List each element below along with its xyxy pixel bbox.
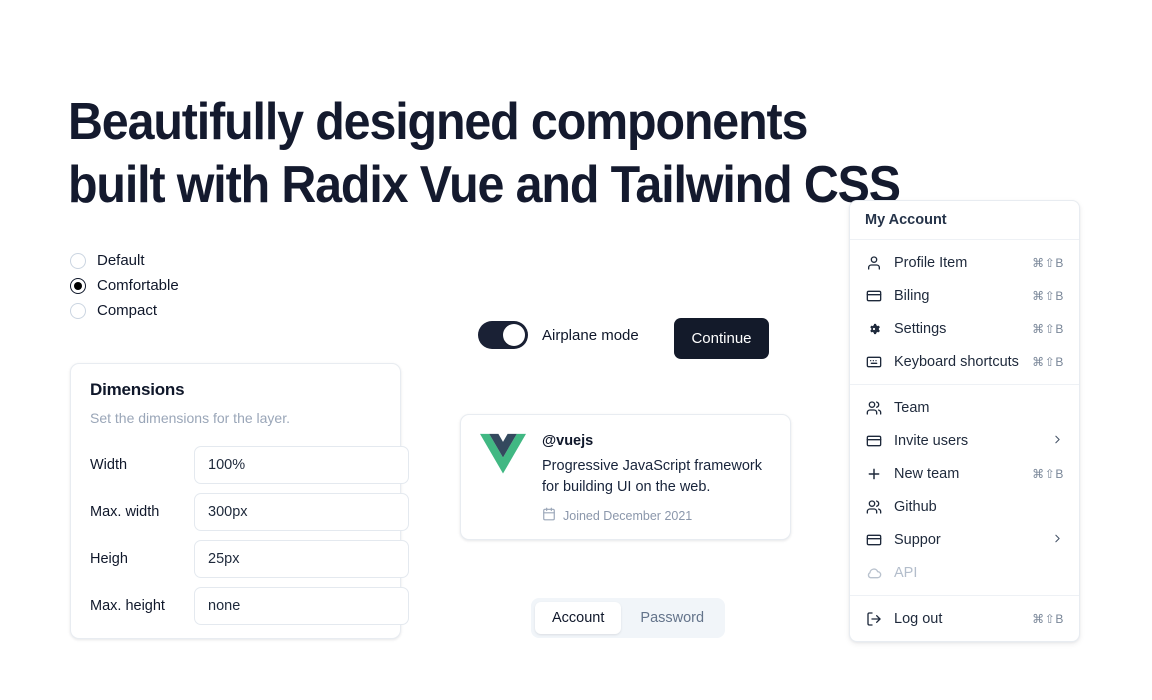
vue-handle: @vuejs	[542, 433, 771, 449]
dimension-field-row: Max. height	[90, 587, 384, 625]
menu-item-keyboard-shortcuts[interactable]: Keyboard shortcuts⌘⇧B	[850, 345, 1079, 378]
menu-item-api: API	[850, 556, 1079, 589]
radio-indicator-icon[interactable]	[70, 278, 86, 294]
dimension-field-input[interactable]	[194, 493, 409, 531]
dimension-field-label: Heigh	[90, 551, 194, 567]
menu-item-label: Keyboard shortcuts	[894, 354, 1020, 370]
airplane-mode-switch[interactable]	[478, 321, 528, 349]
dimensions-card-subtitle: Set the dimensions for the layer.	[90, 410, 290, 426]
tab-account[interactable]: Account	[535, 602, 621, 634]
tab-password[interactable]: Password	[623, 602, 721, 634]
menu-item-biling[interactable]: Biling⌘⇧B	[850, 279, 1079, 312]
credit-card-icon	[865, 432, 882, 449]
menu-item-profile-item[interactable]: Profile Item⌘⇧B	[850, 246, 1079, 279]
menu-group: Log out⌘⇧B	[850, 596, 1079, 641]
menu-item-github[interactable]: Github	[850, 490, 1079, 523]
menu-item-label: Github	[894, 499, 1064, 515]
menu-item-shortcut: ⌘⇧B	[1032, 256, 1064, 270]
menu-item-label: New team	[894, 466, 1020, 482]
dimension-field-row: Heigh	[90, 540, 384, 578]
dimension-field-label: Width	[90, 457, 194, 473]
vue-joined-row: Joined December 2021	[542, 507, 771, 524]
vue-hover-card: @vuejs Progressive JavaScript framework …	[460, 414, 791, 540]
account-dropdown-menu: My Account Profile Item⌘⇧BBiling⌘⇧BSetti…	[849, 200, 1080, 642]
menu-item-label: Log out	[894, 611, 1020, 627]
menu-item-shortcut: ⌘⇧B	[1032, 467, 1064, 481]
menu-item-label: API	[894, 565, 1064, 581]
dimension-field-label: Max. height	[90, 598, 194, 614]
radio-indicator-icon[interactable]	[70, 303, 86, 319]
menu-item-label: Team	[894, 400, 1064, 416]
switch-knob	[503, 324, 525, 346]
dimension-field-input[interactable]	[194, 540, 409, 578]
menu-item-new-team[interactable]: New team⌘⇧B	[850, 457, 1079, 490]
airplane-mode-label: Airplane mode	[542, 327, 639, 344]
vue-description: Progressive JavaScript framework for bui…	[542, 456, 771, 498]
menu-item-label: Biling	[894, 288, 1020, 304]
plus-icon	[865, 465, 882, 482]
vue-joined-text: Joined December 2021	[563, 509, 692, 523]
dimension-field-row: Width	[90, 446, 384, 484]
menu-item-label: Profile Item	[894, 255, 1020, 271]
airplane-mode-row: Airplane mode	[478, 321, 639, 349]
settings-tabs[interactable]: AccountPassword	[531, 598, 725, 638]
credit-card-icon	[865, 531, 882, 548]
radio-indicator-icon[interactable]	[70, 253, 86, 269]
menu-item-invite-users[interactable]: Invite users	[850, 424, 1079, 457]
radio-option-label: Comfortable	[97, 278, 179, 293]
radio-option-comfortable[interactable]: Comfortable	[70, 273, 300, 298]
menu-item-log-out[interactable]: Log out⌘⇧B	[850, 602, 1079, 635]
gear-icon	[865, 320, 882, 337]
menu-item-settings[interactable]: Settings⌘⇧B	[850, 312, 1079, 345]
cloud-icon	[865, 564, 882, 581]
menu-header-label: My Account	[850, 201, 1079, 239]
vue-logo-icon	[480, 433, 526, 475]
radio-option-label: Default	[97, 253, 145, 268]
menu-item-label: Settings	[894, 321, 1020, 337]
menu-item-suppor[interactable]: Suppor	[850, 523, 1079, 556]
radio-option-default[interactable]: Default	[70, 248, 300, 273]
users-icon	[865, 498, 882, 515]
page-title: Beautifully designed components built wi…	[68, 91, 961, 217]
density-radio-group[interactable]: DefaultComfortableCompact	[70, 248, 300, 323]
chevron-right-icon	[1051, 433, 1064, 448]
menu-item-shortcut: ⌘⇧B	[1032, 322, 1064, 336]
menu-item-shortcut: ⌘⇧B	[1032, 289, 1064, 303]
menu-group: TeamInvite usersNew team⌘⇧BGithubSupporA…	[850, 385, 1079, 595]
users-icon	[865, 399, 882, 416]
user-icon	[865, 254, 882, 271]
keyboard-icon	[865, 353, 882, 370]
menu-item-shortcut: ⌘⇧B	[1032, 355, 1064, 369]
logout-icon	[865, 610, 882, 627]
dimension-field-input[interactable]	[194, 587, 409, 625]
dimensions-card: Dimensions Set the dimensions for the la…	[70, 363, 401, 639]
credit-card-icon	[865, 287, 882, 304]
menu-group: Profile Item⌘⇧BBiling⌘⇧BSettings⌘⇧BKeybo…	[850, 240, 1079, 384]
chevron-right-icon	[1051, 532, 1064, 547]
menu-item-team[interactable]: Team	[850, 391, 1079, 424]
menu-item-label: Suppor	[894, 532, 1039, 548]
menu-item-label: Invite users	[894, 433, 1039, 449]
menu-item-shortcut: ⌘⇧B	[1032, 612, 1064, 626]
dimension-field-label: Max. width	[90, 504, 194, 520]
calendar-icon	[542, 507, 556, 524]
dimension-field-input[interactable]	[194, 446, 409, 484]
dimensions-card-title: Dimensions	[90, 380, 184, 400]
radio-option-label: Compact	[97, 303, 157, 318]
radio-option-compact[interactable]: Compact	[70, 298, 300, 323]
dimension-field-row: Max. width	[90, 493, 384, 531]
continue-button[interactable]: Continue	[674, 318, 769, 359]
